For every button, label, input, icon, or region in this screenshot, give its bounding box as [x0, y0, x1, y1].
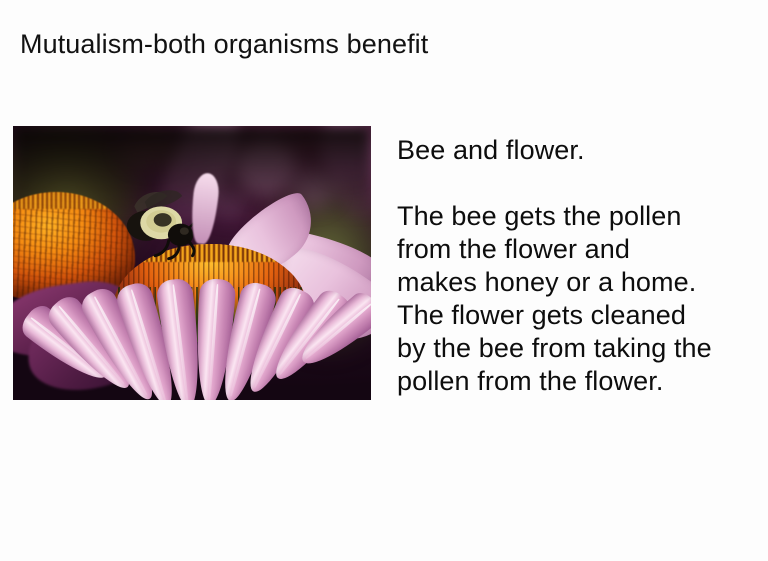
- caption-heading: Bee and flower.: [397, 134, 753, 167]
- photo-canvas: [13, 126, 371, 400]
- caption-line-2: from the flower and: [397, 233, 753, 266]
- caption-blank-line: [397, 167, 753, 200]
- bee-thorax-spot: [154, 213, 172, 226]
- caption-text-block: Bee and flower. The bee gets the pollen …: [397, 134, 753, 398]
- caption-line-4: The flower gets cleaned: [397, 299, 753, 332]
- caption-line-3: makes honey or a home.: [397, 266, 753, 299]
- caption-line-6: pollen from the flower.: [397, 365, 753, 398]
- caption-line-1: The bee gets the pollen: [397, 200, 753, 233]
- slide-canvas: Mutualism-both organisms benefit: [0, 0, 768, 561]
- caption-line-5: by the bee from taking the: [397, 332, 753, 365]
- flower-photo: [13, 126, 371, 400]
- bee-eye: [180, 227, 189, 234]
- page-title: Mutualism-both organisms benefit: [20, 28, 428, 60]
